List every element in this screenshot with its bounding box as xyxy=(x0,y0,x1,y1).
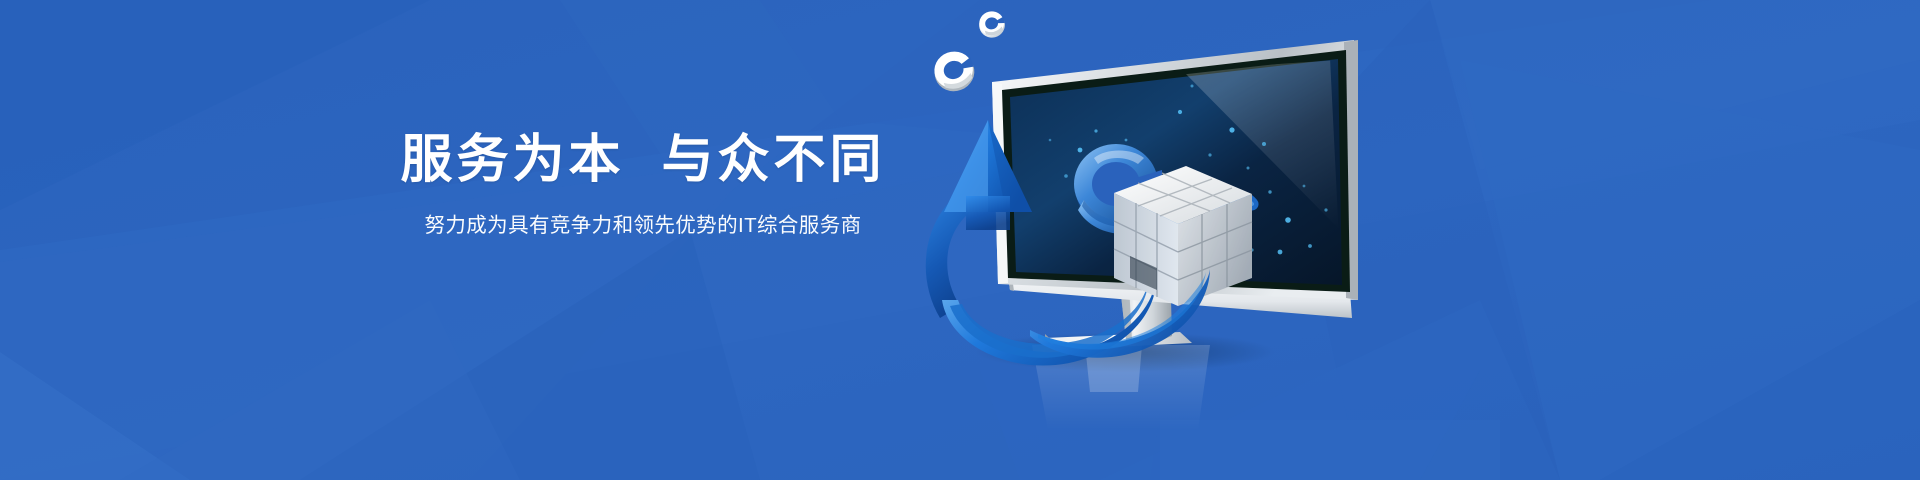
illustration-svg xyxy=(880,0,1920,480)
rubiks-cube-3d xyxy=(1114,166,1252,306)
page-title: 服务为本 与众不同 xyxy=(393,132,893,188)
banner-text-block: 服务为本 与众不同 努力成为具有竞争力和领先优势的IT综合服务商 xyxy=(393,132,893,238)
floating-e-icon-small xyxy=(976,9,1007,41)
floating-e-icon-large xyxy=(929,46,980,97)
hero-banner: 服务为本 与众不同 努力成为具有竞争力和领先优势的IT综合服务商 xyxy=(0,0,1920,480)
page-subtitle: 努力成为具有竞争力和领先优势的IT综合服务商 xyxy=(393,208,893,238)
hero-illustration xyxy=(880,0,1920,480)
